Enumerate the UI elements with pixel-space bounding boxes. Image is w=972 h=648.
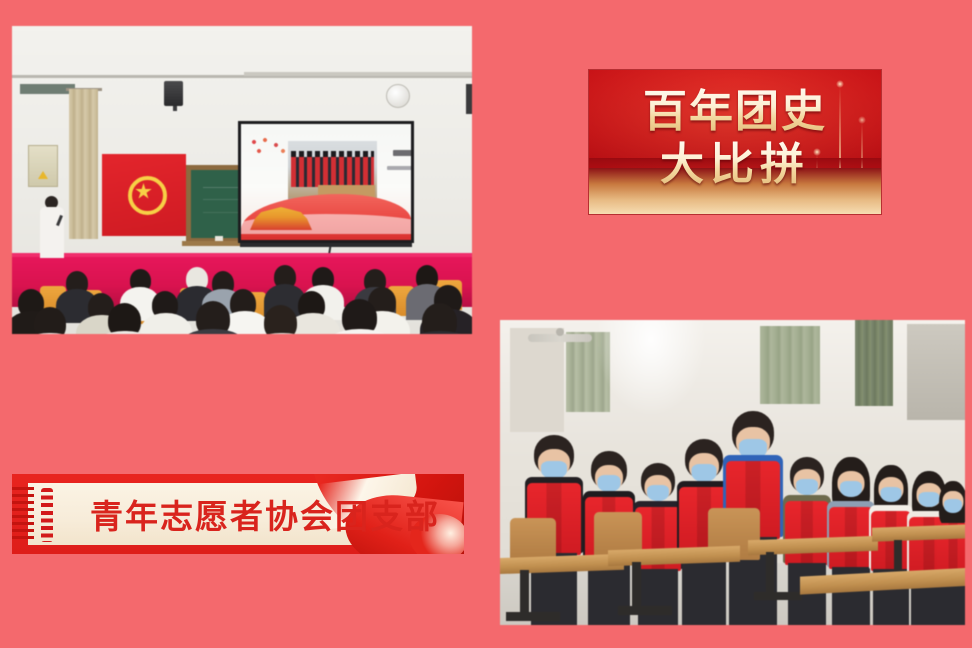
- slide-photo-red-vests: [291, 157, 374, 187]
- window-light-glow: [596, 320, 706, 416]
- photo-lecture-hall-presentation: [12, 26, 472, 334]
- title-line-1: 百年团史: [589, 87, 881, 137]
- red-volunteer-vest: [785, 501, 829, 565]
- green-wall-panel: [760, 326, 820, 404]
- audience-head: [34, 307, 66, 334]
- audience-head: [422, 303, 457, 334]
- audience-group: [12, 241, 472, 334]
- window: [907, 324, 965, 420]
- label-dashes-decoration: [12, 487, 34, 541]
- desk-foot: [754, 592, 802, 600]
- door: [510, 328, 564, 432]
- face-mask-icon: [881, 487, 902, 502]
- desk-foot: [506, 612, 560, 621]
- audience-head: [108, 303, 141, 334]
- title-line-2: 大比拼: [589, 140, 881, 190]
- label-binding-holes-icon: [41, 488, 53, 542]
- ceiling-fan-icon: [528, 334, 592, 342]
- slide-subtitle-text: [387, 166, 411, 170]
- label-text: 青年志愿者协会团支部: [90, 490, 440, 538]
- youth-league-flag: [102, 154, 186, 236]
- projector-screen: [238, 121, 414, 243]
- desk-foot: [618, 606, 672, 615]
- face-mask-icon: [598, 475, 621, 492]
- label-banner: 青年志愿者协会团支部: [12, 474, 464, 554]
- slide-canvas: 百年团史 大比拼 青年志愿者协会团支部: [0, 0, 972, 648]
- slide-confetti-icon: [250, 138, 286, 156]
- speaker-icon: [164, 81, 183, 106]
- wall-clock-icon: [386, 84, 410, 108]
- face-mask-icon: [647, 485, 669, 501]
- wall-rail-right: [244, 72, 472, 76]
- electrical-box-icon: [28, 145, 58, 187]
- face-mask-icon: [840, 481, 862, 497]
- flag-circle-icon: [128, 176, 167, 215]
- green-wall-panel: [855, 320, 893, 406]
- desk-leg: [520, 570, 529, 616]
- face-mask-icon: [692, 464, 717, 482]
- student-legs: [588, 563, 630, 625]
- face-mask-icon: [796, 479, 818, 495]
- audience-head: [264, 305, 297, 334]
- projected-slide: [241, 124, 411, 240]
- face-mask-icon: [944, 499, 962, 513]
- photo-volunteers-standing: [500, 320, 965, 625]
- student-legs: [682, 555, 726, 625]
- title-banner: 百年团史 大比拼: [589, 70, 881, 214]
- window-curtain: [69, 89, 98, 239]
- speaker-mount: [173, 106, 177, 111]
- desk-leg: [632, 562, 641, 610]
- student-legs: [638, 569, 678, 625]
- ceiling-beam: [466, 84, 472, 114]
- desk-leg: [766, 552, 774, 596]
- slide-title-text: [393, 150, 411, 156]
- student-volunteer: [936, 467, 965, 625]
